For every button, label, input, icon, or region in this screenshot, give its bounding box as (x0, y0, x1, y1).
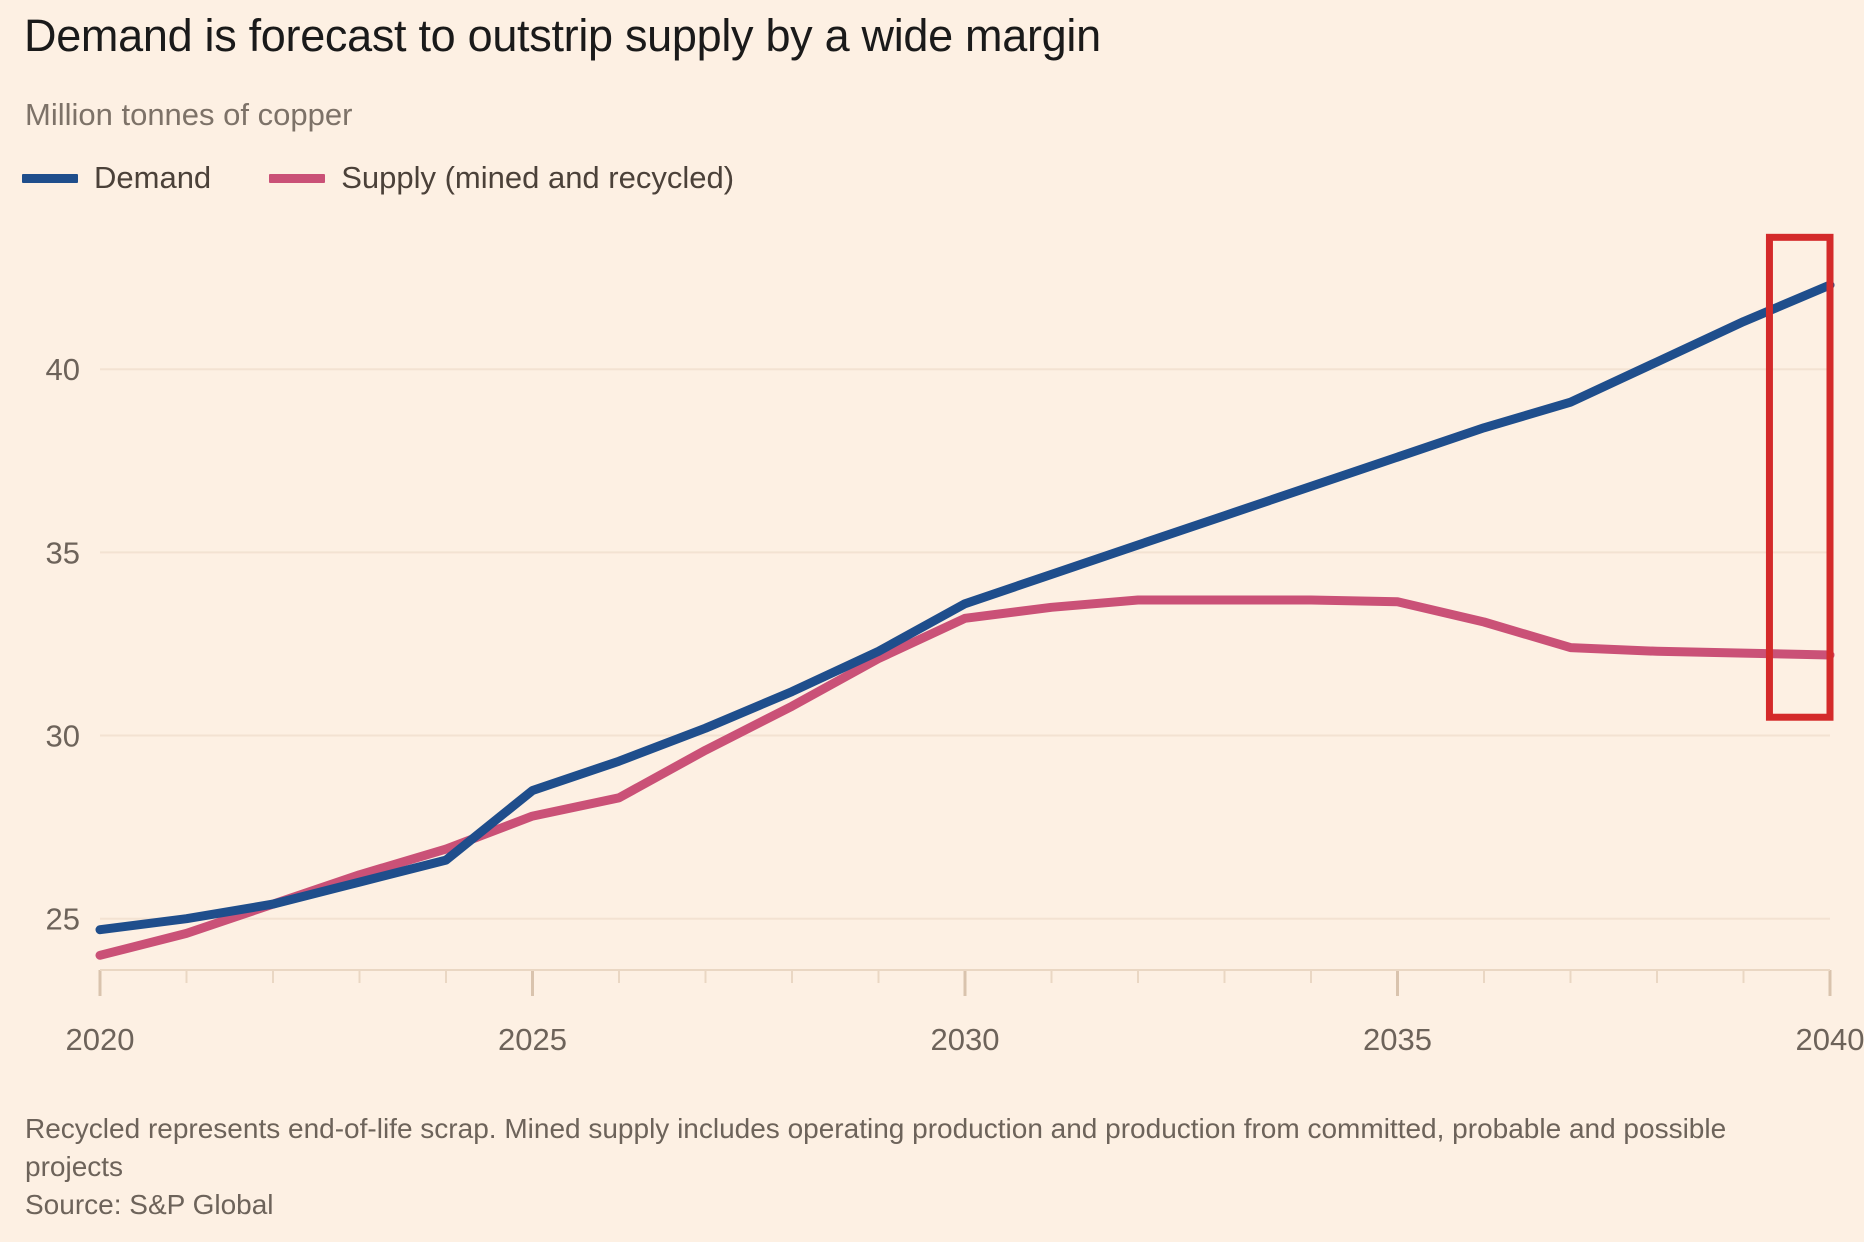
x-tick-label: 2035 (1363, 1022, 1432, 1057)
chart-plot-area: 25303540 20202025203020352040 (0, 210, 1864, 1070)
legend-label-demand: Demand (94, 159, 211, 197)
chart-page: Demand is forecast to outstrip supply by… (0, 0, 1864, 1242)
footnote-note: Recycled represents end-of-life scrap. M… (25, 1113, 1726, 1182)
legend-item-demand[interactable]: Demand (22, 158, 211, 198)
page-title: Demand is forecast to outstrip supply by… (24, 8, 1101, 64)
chart-subtitle: Million tonnes of copper (25, 96, 352, 134)
y-tick-label: 40 (46, 352, 80, 387)
x-tick-label: 2020 (66, 1022, 135, 1057)
y-tick-label: 30 (46, 719, 80, 754)
legend-swatch-supply (269, 174, 325, 183)
chart-footnote: Recycled represents end-of-life scrap. M… (25, 1110, 1765, 1224)
legend-label-supply: Supply (mined and recycled) (341, 159, 734, 197)
footnote-source: Source: S&P Global (25, 1186, 1765, 1224)
x-tick-label: 2030 (931, 1022, 1000, 1057)
series-line-demand (100, 285, 1830, 930)
y-tick-label: 25 (46, 902, 80, 937)
x-tick-label: 2040 (1796, 1022, 1864, 1057)
line-chart-svg: 25303540 20202025203020352040 (0, 210, 1864, 1070)
series-line-supply (100, 600, 1830, 955)
y-tick-label: 35 (46, 535, 80, 570)
chart-legend: Demand Supply (mined and recycled) (22, 158, 734, 198)
legend-item-supply[interactable]: Supply (mined and recycled) (269, 158, 734, 198)
x-axis-tick-labels: 20202025203020352040 (66, 1022, 1864, 1057)
x-axis-ticks (100, 970, 1830, 996)
legend-swatch-demand (22, 174, 78, 183)
x-tick-label: 2025 (498, 1022, 567, 1057)
y-axis-tick-labels: 25303540 (46, 352, 80, 937)
